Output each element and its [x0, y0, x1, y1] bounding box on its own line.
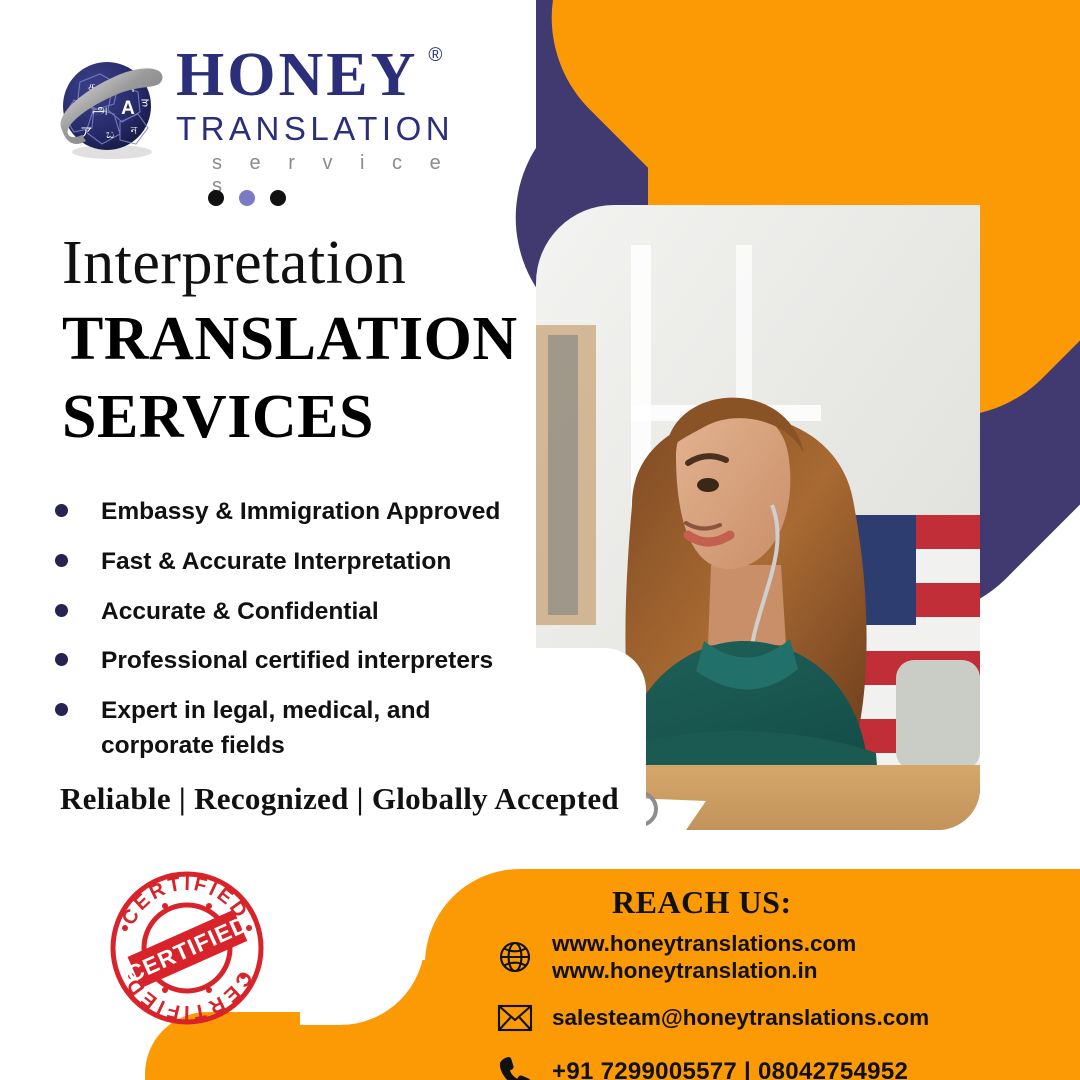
contact-row-email[interactable]: salesteam@honeytranslations.com [494, 997, 1054, 1039]
dot-divider [208, 190, 286, 206]
svg-text:ন: ন [130, 125, 138, 137]
dot-1 [208, 190, 224, 206]
logo-wordmark: HONEY ® TRANSLATION s e r v i c e s [176, 44, 470, 198]
feature-text: Embassy & Immigration Approved [101, 495, 500, 530]
website-urls: www.honeytranslations.com www.honeytrans… [552, 930, 856, 985]
feature-text: Fast & Accurate Interpretation [101, 545, 451, 580]
list-item: Professional certified interpreters [55, 644, 525, 679]
list-item: Expert in legal, medical, and corporate … [55, 694, 525, 764]
globe-languages-icon: க म ا સ அ A ਤ ア ಬ ন [50, 54, 168, 172]
logo-translation-text: TRANSLATION [176, 110, 470, 148]
headline-bold-line-1: TRANSLATION [62, 306, 518, 372]
svg-text:A: A [121, 98, 135, 119]
bullet-dot-icon [55, 554, 68, 567]
feature-text: Professional certified interpreters [101, 644, 493, 679]
list-item: Embassy & Immigration Approved [55, 495, 525, 530]
contact-list: www.honeytranslations.com www.honeytrans… [494, 930, 1054, 1080]
tagline: Reliable | Recognized | Globally Accepte… [60, 781, 619, 817]
brand-logo[interactable]: க म ا સ அ A ਤ ア ಬ ন HONEY ® TRANSLATION … [50, 44, 470, 189]
contact-row-website[interactable]: www.honeytranslations.com www.honeytrans… [494, 930, 1054, 985]
bullet-dot-icon [55, 604, 68, 617]
bullet-dot-icon [55, 653, 68, 666]
dot-2 [239, 190, 255, 206]
headline-script-line: Interpretation [62, 232, 518, 294]
svg-text:ಬ: ಬ [106, 127, 114, 141]
globe-icon [494, 936, 536, 978]
logo-name-text: HONEY [176, 41, 418, 109]
email-address[interactable]: salesteam@honeytranslations.com [552, 1004, 929, 1031]
list-item: Fast & Accurate Interpretation [55, 545, 525, 580]
contact-row-phone[interactable]: +91 7299005577 | 08042754952 [494, 1051, 1054, 1080]
registered-trademark-icon: ® [428, 46, 442, 65]
feature-text: Accurate & Confidential [101, 595, 379, 630]
bullet-dot-icon [55, 504, 68, 517]
feature-text: Expert in legal, medical, and corporate … [101, 694, 461, 764]
envelope-icon [494, 997, 536, 1039]
phone-numbers[interactable]: +91 7299005577 | 08042754952 [552, 1057, 908, 1080]
reach-us-heading: REACH US: [612, 884, 792, 921]
headline-bold-line-2: SERVICES [62, 384, 518, 450]
certified-stamp-icon: CERTIFIED CERTIFIED CERTIFIED [107, 868, 267, 1028]
feature-list: Embassy & Immigration Approved Fast & Ac… [55, 495, 525, 779]
bullet-dot-icon [55, 703, 68, 716]
website-url-2[interactable]: www.honeytranslation.in [552, 958, 817, 983]
dot-3 [270, 190, 286, 206]
poster-canvas: க म ا સ அ A ਤ ア ಬ ন HONEY ® TRANSLATION … [0, 0, 1080, 1080]
website-url-1[interactable]: www.honeytranslations.com [552, 931, 856, 956]
svg-text:ਤ: ਤ [140, 97, 149, 109]
list-item: Accurate & Confidential [55, 595, 525, 630]
page-title: Interpretation TRANSLATION SERVICES [62, 232, 518, 451]
phone-icon [494, 1051, 536, 1080]
